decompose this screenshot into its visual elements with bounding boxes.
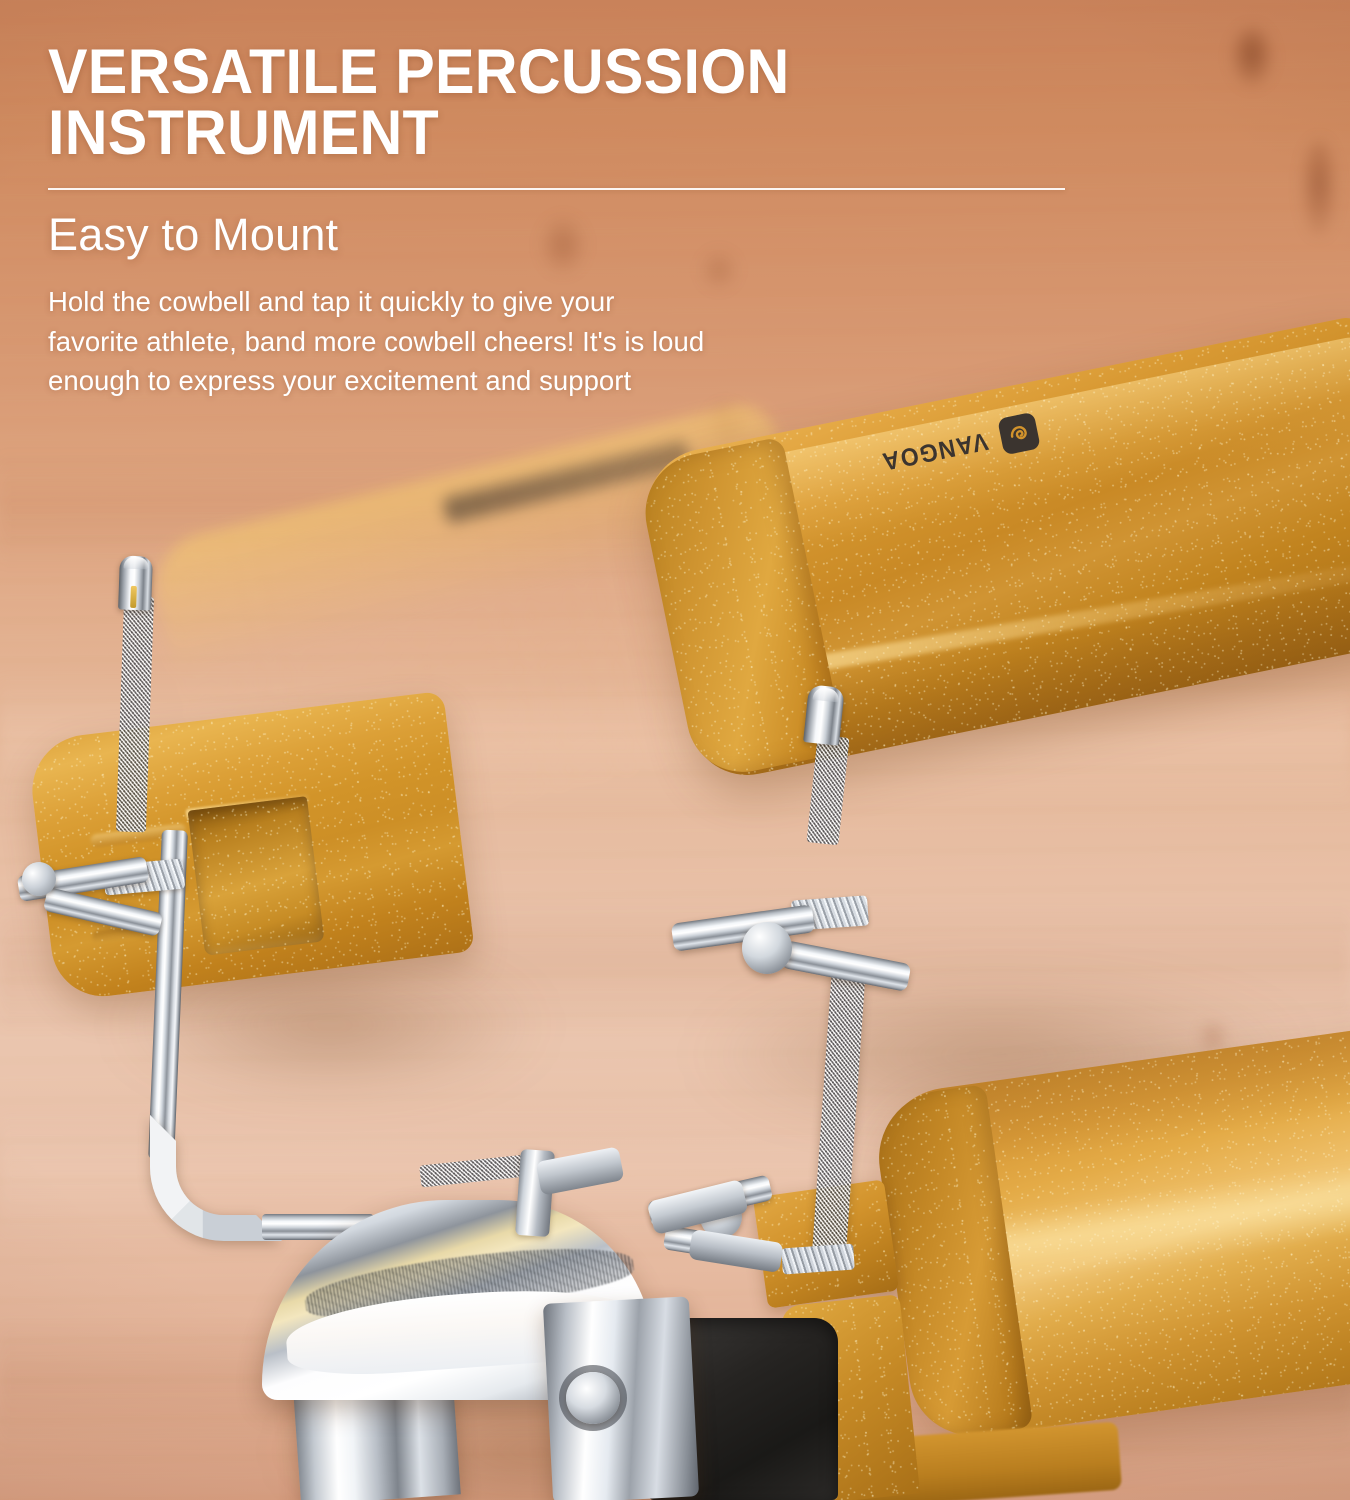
marketing-copy-block: VERSATILE PERCUSSION INSTRUMENT Easy to … [48, 42, 1148, 400]
body-text: Hold the cowbell and tap it quickly to g… [48, 282, 848, 399]
rod-tip-icon [118, 555, 153, 610]
product-hero-image: VANGOA [0, 0, 1350, 1500]
headline: VERSATILE PERCUSSION INSTRUMENT [48, 42, 1082, 164]
cowbell-mount-slot [188, 796, 325, 956]
cowbell-left [26, 691, 475, 1002]
rod-tip-icon [803, 684, 845, 745]
clamp-bolt-icon [566, 1372, 620, 1424]
threaded-screw [781, 1244, 855, 1275]
subheading: Easy to Mount [48, 211, 1148, 258]
wing-nut-cap [742, 922, 792, 974]
spiral-swirl-icon [997, 412, 1041, 456]
divider [48, 188, 1065, 190]
